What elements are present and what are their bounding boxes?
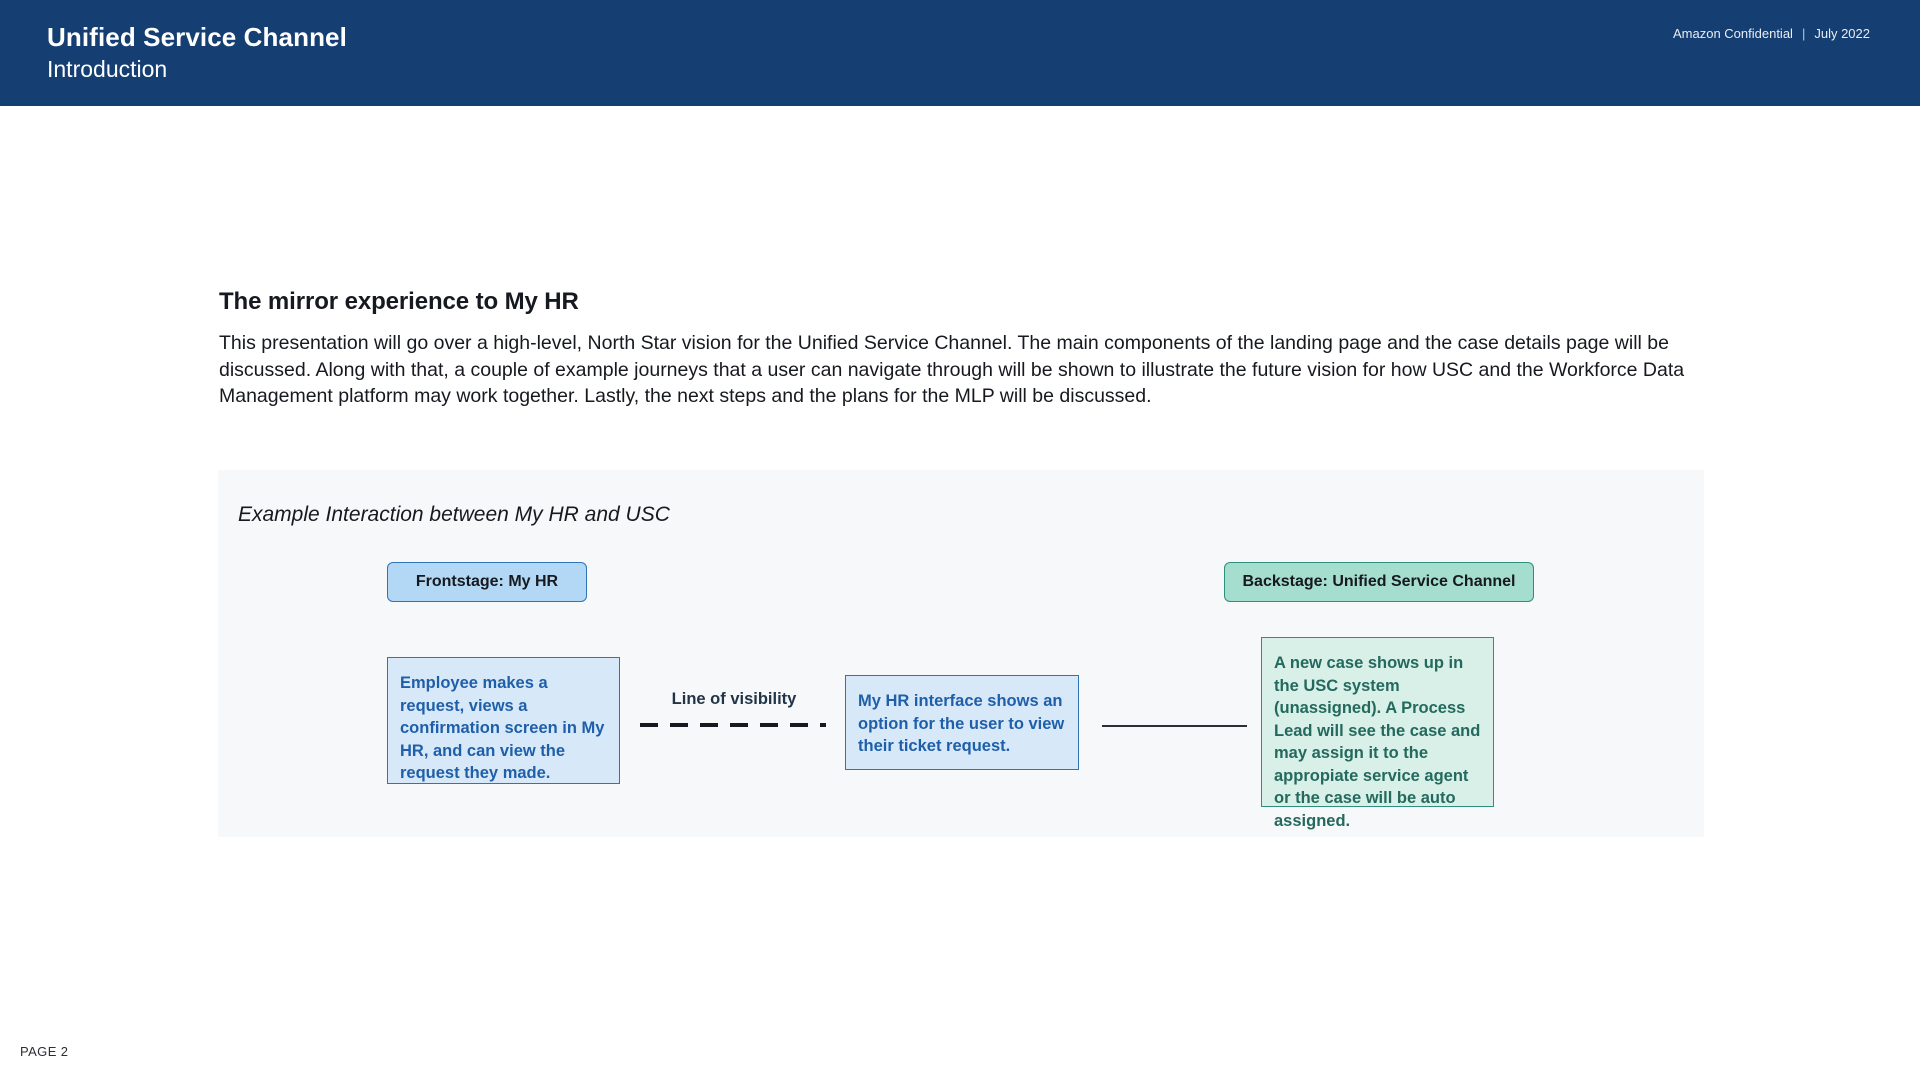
section-paragraph: This presentation will go over a high-le… bbox=[219, 330, 1699, 410]
card-myhr-interface: My HR interface shows an option for the … bbox=[845, 675, 1079, 770]
section-title: The mirror experience to My HR bbox=[219, 288, 579, 316]
page-subtitle: Introduction bbox=[47, 56, 167, 83]
connector-line-interface-to-usc bbox=[1102, 725, 1247, 727]
confidential-label: Amazon Confidential bbox=[1673, 26, 1793, 41]
page-title: Unified Service Channel bbox=[47, 22, 347, 53]
meta-separator: | bbox=[1802, 26, 1805, 41]
header-date: July 2022 bbox=[1814, 26, 1870, 41]
page-number: PAGE 2 bbox=[20, 1044, 68, 1059]
lane-chip-backstage: Backstage: Unified Service Channel bbox=[1224, 562, 1534, 602]
line-of-visibility-label: Line of visibility bbox=[634, 690, 834, 709]
card-employee-request: Employee makes a request, views a confir… bbox=[387, 657, 620, 784]
diagram-caption: Example Interaction between My HR and US… bbox=[238, 503, 670, 527]
header-meta: Amazon Confidential | July 2022 bbox=[1673, 26, 1870, 41]
slide: Unified Service Channel Introduction Ama… bbox=[0, 0, 1920, 1080]
line-of-visibility-dashes bbox=[640, 723, 826, 727]
card-usc-new-case: A new case shows up in the USC system (u… bbox=[1261, 637, 1494, 807]
lane-chip-frontstage: Frontstage: My HR bbox=[387, 562, 587, 602]
slide-header-band bbox=[0, 0, 1920, 106]
